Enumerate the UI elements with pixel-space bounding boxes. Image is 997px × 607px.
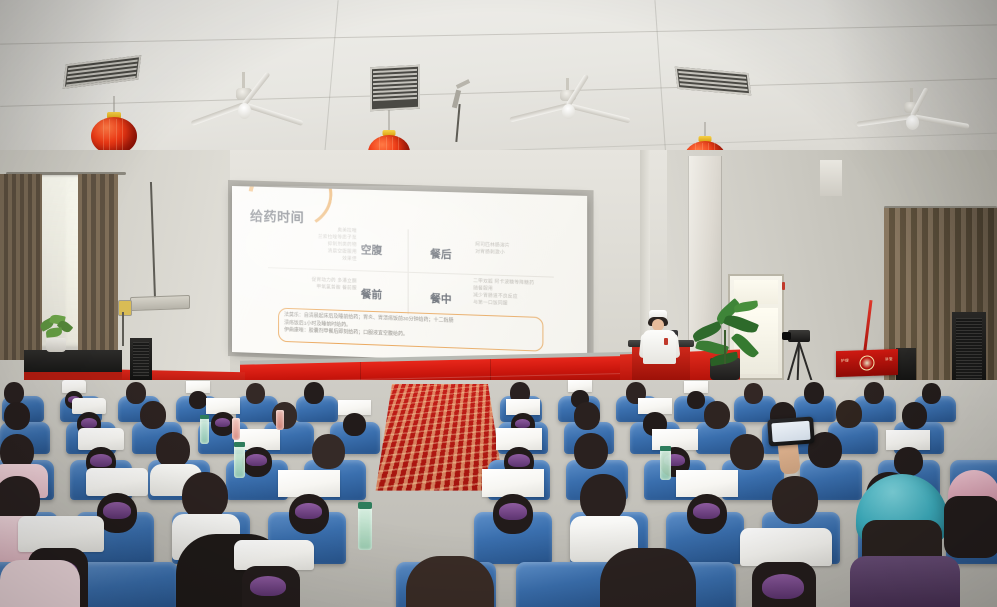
ceiling-fan [500,78,630,138]
slide-text-lower-left: 促胃动力药 多潘立酮 甲氧氯普胺 餐前服 [244,274,357,292]
phone-screen [771,421,810,443]
slide-note-text: 法莫乐：自清晨起床后及睡前给药；胃炎、胃溃疡饭前30分钟给药；十二指肠 溃疡饭后… [279,309,542,345]
banner-text-right: 讲堂 [885,357,893,362]
foreground-nurse [226,540,346,607]
speaker-grill [956,318,982,382]
ceiling-fan [856,88,986,148]
door-sign [782,282,785,290]
slide-label-during-meal: 餐中 [430,291,452,307]
slide-label-before-meal: 餐前 [361,286,382,302]
water-bottle [200,418,209,444]
potted-palm [690,300,766,376]
drink-bottle [276,410,284,430]
projection-screen: 给药时间 空腹 餐后 餐前 餐中 奥美拉唑 兰索拉唑等质子泵 抑制剂类药物 清晨… [232,186,587,366]
camera-lens-icon [782,332,791,340]
potted-plant [36,312,76,342]
slide-title: 给药时间 [250,206,304,227]
beam [820,160,842,196]
foreground-person [406,556,506,607]
banner-text-left: 护理 [841,359,849,364]
foreground-nurse [740,528,860,607]
tripod-leg [798,342,813,384]
foreground-shoulder [0,560,80,607]
bottle-cap [660,446,671,451]
foreground-person [600,548,710,607]
wall-switch [118,300,132,316]
tripod-leg [797,342,800,384]
slide-note-box: 法莫乐：自清晨起床后及睡前给药；胃炎、胃溃疡饭前30分钟给药；十二指肠 溃疡饭后… [278,308,543,352]
curtain-left [78,174,118,364]
wall-cable [122,312,124,346]
hospital-emblem-icon [860,355,875,371]
ceiling-vent [370,65,420,112]
ceiling-fan [198,72,318,132]
juice-bottle [232,418,240,440]
nurse-cap [18,516,104,552]
presenter-badge [664,338,668,345]
auditorium-photo: 给药时间 空腹 餐后 餐前 餐中 奥美拉唑 兰索拉唑等质子泵 抑制剂类药物 清晨… [0,0,997,607]
ceiling-light-fixture [448,82,478,142]
slide-text-upper-left: 奥美拉唑 兰索拉唑等质子泵 抑制剂类药物 清晨空腹服用 效果佳 [262,225,357,263]
slide-label-after-meal: 餐后 [430,246,452,262]
bottle-cap [200,415,209,419]
speaker-grill [133,342,149,376]
av-speaker [896,348,916,384]
slide-text-upper-right: 阿司匹林肠溶片 对胃肠刺激小 [475,242,558,259]
wall-socket-panel [130,295,190,311]
presenter-nurse [640,310,680,362]
smartphone [767,416,815,446]
slide-text-lower-right: 二甲双胍 阿卡波糖等降糖药 随餐服用 减少胃肠道不良反应 与第一口饭同服 [473,278,572,309]
camera-body [788,330,810,342]
tripod-camera [782,330,822,386]
presenter-uniform [643,330,676,364]
bottle-cap [234,442,245,447]
slide-label-empty-stomach: 空腹 [361,242,382,258]
hospital-banner: 护理 讲堂 [836,349,898,377]
